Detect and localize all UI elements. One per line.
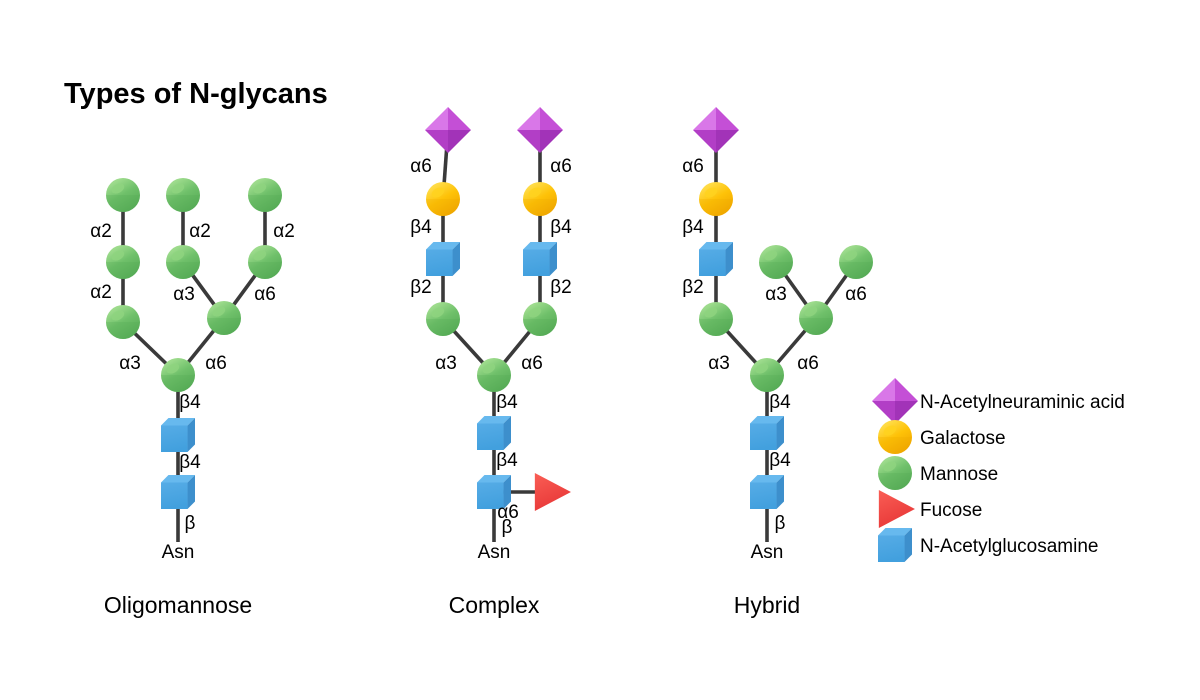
- hybrid-m-mid[interactable]: [799, 301, 833, 335]
- legend-label-galactose: Galactose: [920, 428, 1006, 449]
- legend-galactose-icon[interactable]: [878, 420, 912, 454]
- hybrid-linkage-label-α6: α6: [797, 353, 819, 374]
- page-title: Types of N-glycans: [64, 78, 328, 110]
- complex-linkage-label-β4: β4: [496, 392, 518, 413]
- complex-g1[interactable]: [477, 416, 511, 450]
- complex-gn-l[interactable]: [426, 242, 460, 276]
- oligomannose-linkage-label-α3: α3: [119, 353, 141, 374]
- hybrid-g2[interactable]: [750, 475, 784, 509]
- hybrid-gal-l[interactable]: [699, 182, 733, 216]
- complex-linkage-label-β4: β4: [550, 217, 572, 238]
- hybrid-linkage-label-α3: α3: [765, 284, 787, 305]
- hybrid-g1[interactable]: [750, 416, 784, 450]
- legend-mannose-icon[interactable]: [878, 456, 912, 490]
- oligomannose-m-e[interactable]: [166, 245, 200, 279]
- hybrid-man-l[interactable]: [699, 302, 733, 336]
- hybrid-linkage-label-β: β: [775, 513, 786, 534]
- complex-asn-label: Asn: [478, 542, 511, 563]
- complex-gn-l-front-face: [426, 249, 453, 276]
- hybrid-linkage-label-β2: β2: [682, 277, 704, 298]
- complex-m-core[interactable]: [477, 358, 511, 392]
- complex-man-l[interactable]: [426, 302, 460, 336]
- oligomannose-caption: Oligomannose: [104, 592, 252, 618]
- hybrid-linkage-label-α6: α6: [845, 284, 867, 305]
- hybrid-linkage-label-α3: α3: [708, 353, 730, 374]
- hybrid-gn-l-front-face: [699, 249, 726, 276]
- complex-linkage-label-α6: α6: [521, 353, 543, 374]
- complex-gal-l[interactable]: [426, 182, 460, 216]
- hybrid-m-up2[interactable]: [839, 245, 873, 279]
- complex-g1-front-face: [477, 423, 504, 450]
- hybrid-linkage-label-β4: β4: [769, 450, 791, 471]
- oligomannose-linkage-label-α3: α3: [173, 284, 195, 305]
- oligomannose-g2[interactable]: [161, 475, 195, 509]
- n-glycan-diagram: Types of N-glycans α2α2α2α2α3α6α3α6β4β4β…: [0, 0, 1200, 700]
- legend-label-neuac: N-Acetylneuraminic acid: [920, 392, 1125, 413]
- oligomannose-m-core[interactable]: [161, 358, 195, 392]
- oligomannose-linkage-label-β4: β4: [179, 392, 201, 413]
- complex-linkage-label-β2: β2: [550, 277, 572, 298]
- hybrid-caption: Hybrid: [734, 592, 800, 618]
- hybrid-linkage-label-β4: β4: [682, 217, 704, 238]
- hybrid-asn-label: Asn: [751, 542, 784, 563]
- oligomannose-g1-front-face: [161, 425, 188, 452]
- oligomannose-linkage-label-β: β: [185, 513, 196, 534]
- oligomannose-linkage-label-α2: α2: [90, 221, 112, 242]
- oligomannose-linkage-label-α6: α6: [205, 353, 227, 374]
- hybrid-m-up1[interactable]: [759, 245, 793, 279]
- hybrid-linkage-label-α6: α6: [682, 156, 704, 177]
- hybrid-gn-l[interactable]: [699, 242, 733, 276]
- legend-glcnac-icon[interactable]: [878, 528, 912, 562]
- hybrid-g1-front-face: [750, 423, 777, 450]
- oligomannose-m-a[interactable]: [106, 178, 140, 212]
- complex-linkage-label-β: β: [502, 517, 513, 538]
- oligomannose-linkage-label-α6: α6: [254, 284, 276, 305]
- hybrid-m-core[interactable]: [750, 358, 784, 392]
- oligomannose-linkage-label-β4: β4: [179, 452, 201, 473]
- complex-linkage-label-β2: β2: [410, 277, 432, 298]
- oligomannose-m-g[interactable]: [248, 245, 282, 279]
- oligomannose-linkage-label-α2: α2: [189, 221, 211, 242]
- hybrid-g2-front-face: [750, 482, 777, 509]
- legend-glcnac-icon-front-face: [878, 535, 905, 562]
- oligomannose-m-h[interactable]: [207, 301, 241, 335]
- complex-linkage-label-α6: α6: [410, 156, 432, 177]
- oligomannose-m-b[interactable]: [106, 245, 140, 279]
- oligomannose-asn-label: Asn: [162, 542, 195, 563]
- oligomannose-g1[interactable]: [161, 418, 195, 452]
- complex-linkage-label-α6: α6: [550, 156, 572, 177]
- complex-gn-r[interactable]: [523, 242, 557, 276]
- oligomannose-linkage-label-α2: α2: [273, 221, 295, 242]
- complex-gn-r-front-face: [523, 249, 550, 276]
- complex-linkage-label-α3: α3: [435, 353, 457, 374]
- oligomannose-m-c[interactable]: [106, 305, 140, 339]
- complex-gal-r[interactable]: [523, 182, 557, 216]
- oligomannose-linkage-label-α2: α2: [90, 282, 112, 303]
- legend-label-fucose: Fucose: [920, 500, 982, 521]
- hybrid-linkage-label-β4: β4: [769, 392, 791, 413]
- oligomannose-m-d[interactable]: [166, 178, 200, 212]
- complex-man-r[interactable]: [523, 302, 557, 336]
- legend-label-mannose: Mannose: [920, 464, 998, 485]
- oligomannose-g2-front-face: [161, 482, 188, 509]
- complex-caption: Complex: [449, 592, 540, 618]
- complex-linkage-label-β4: β4: [496, 450, 518, 471]
- legend-label-glcnac: N-Acetylglucosamine: [920, 536, 1098, 557]
- oligomannose-m-f[interactable]: [248, 178, 282, 212]
- complex-linkage-label-β4: β4: [410, 217, 432, 238]
